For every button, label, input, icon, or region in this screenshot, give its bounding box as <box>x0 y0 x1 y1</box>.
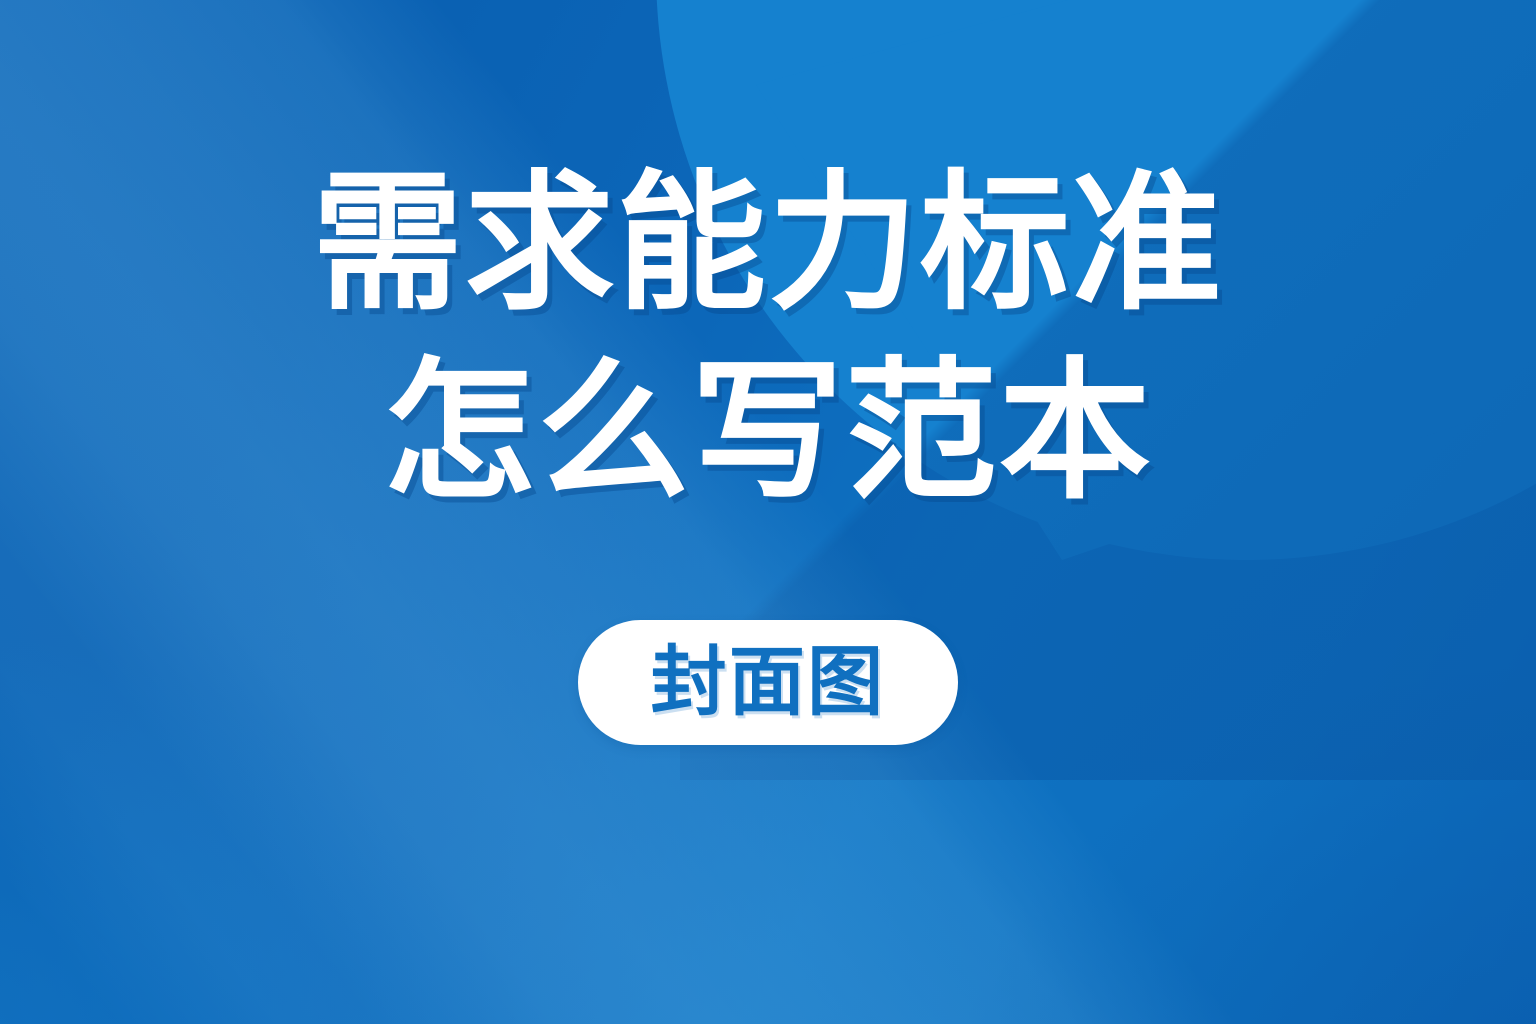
badge-row: 封面图 <box>0 620 1536 745</box>
headline-line-2: 怎么写范本 <box>0 356 1536 508</box>
cover-image-badge-label: 封面图 <box>651 645 886 721</box>
poster-content: 需求能力标准 怎么写范本 封面图 <box>0 0 1536 1024</box>
headline-line-1: 需求能力标准 <box>0 168 1536 318</box>
cover-poster: 需求能力标准 怎么写范本 封面图 <box>0 0 1536 1024</box>
cover-image-badge[interactable]: 封面图 <box>578 620 958 745</box>
